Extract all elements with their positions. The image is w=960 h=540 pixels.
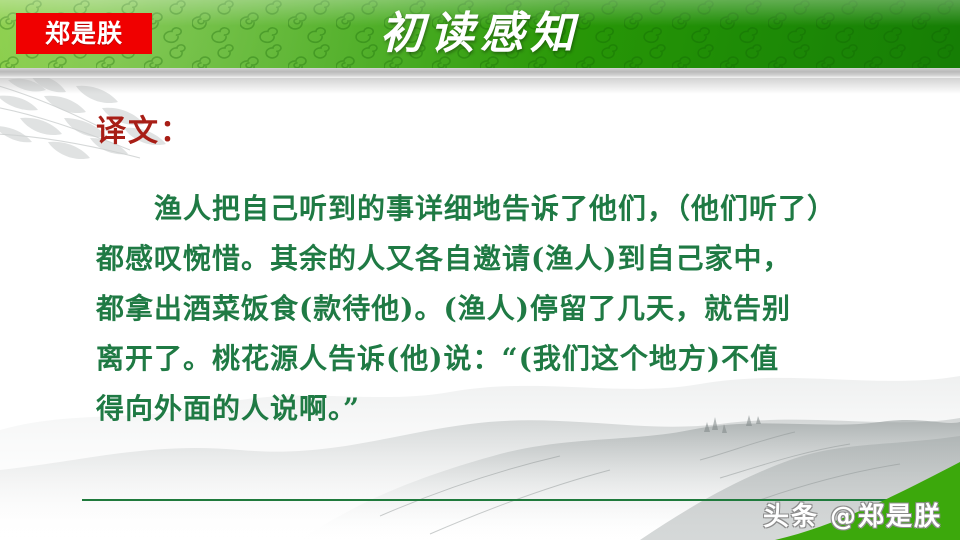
translation-line: 渔人把自己听到的事详细地告诉了他们，（他们听了） <box>96 184 886 234</box>
translation-body: 渔人把自己听到的事详细地告诉了他们，（他们听了） 都感叹惋惜。其余的人又各自邀请… <box>96 184 886 434</box>
watermark-text: 头条 @郑是朕 <box>763 500 942 534</box>
header-band: 郑是朕 初读感知 <box>0 0 960 68</box>
translation-line: 得向外面的人说啊。” <box>96 384 886 434</box>
slide-root: 郑是朕 初读感知 译文： 渔人把自己听到的事详细地告诉了他们，（他们听了） 都感… <box>0 0 960 540</box>
header-divider-shadow <box>0 78 960 94</box>
translation-line: 离开了。桃花源人告诉(他)说：“(我们这个地方)不值 <box>96 334 886 384</box>
translation-line: 都拿出酒菜饭食(款待他)。(渔人)停留了几天，就告别 <box>96 284 886 334</box>
page-title: 初读感知 <box>0 4 960 64</box>
translation-line: 都感叹惋惜。其余的人又各自邀请(渔人)到自己家中， <box>96 234 886 284</box>
header-divider-bar <box>0 68 960 78</box>
translation-label: 译文： <box>96 112 192 152</box>
